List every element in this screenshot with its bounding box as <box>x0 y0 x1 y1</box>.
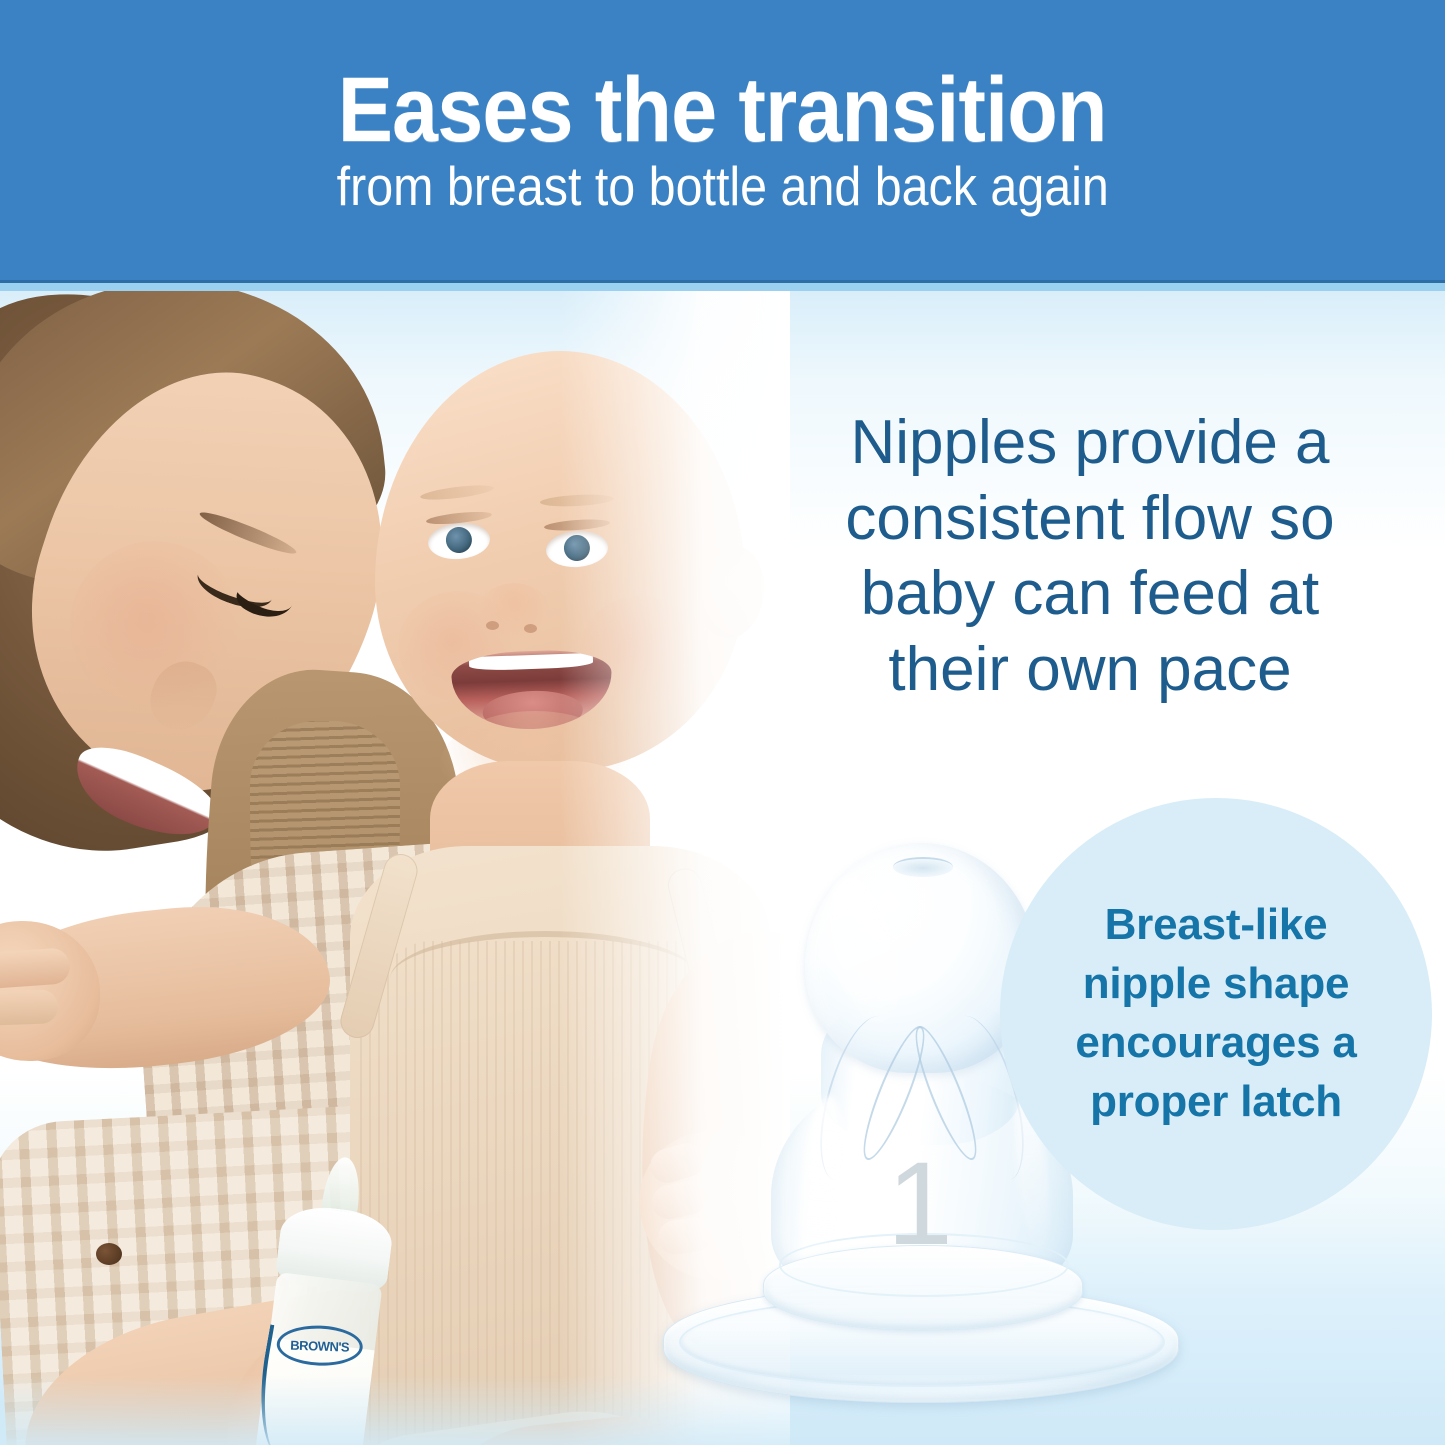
baby-nose <box>478 583 550 639</box>
page-subtitle: from breast to bottle and back again <box>336 158 1108 216</box>
page-title: Eases the transition <box>338 64 1107 156</box>
benefit-copy: Nipples provide a consistent flow so bab… <box>790 405 1390 708</box>
mother-finger <box>0 989 59 1027</box>
header-underline-divider <box>0 283 1445 291</box>
header-banner: Eases the transition from breast to bott… <box>0 0 1445 283</box>
benefit-copy-line-1: Nipples provide a <box>790 405 1390 481</box>
product-marketing-image: Eases the transition from breast to bott… <box>0 0 1445 1445</box>
feature-badge-circle: Breast-like nipple shape encourages a pr… <box>1000 798 1432 1230</box>
benefit-copy-line-2: consistent flow so <box>790 481 1390 557</box>
feature-badge-line-3: encourages a <box>1051 1014 1381 1073</box>
feature-badge-line-1: Breast-like <box>1051 896 1381 955</box>
nipple-feeding-hole <box>893 857 953 877</box>
feature-badge-text: Breast-like nipple shape encourages a pr… <box>1051 896 1381 1132</box>
mother-shirt-button <box>96 1243 122 1265</box>
benefit-copy-line-3: baby can feed at <box>790 556 1390 632</box>
feature-badge-line-2: nipple shape <box>1051 955 1381 1014</box>
feature-badge-line-4: proper latch <box>1051 1073 1381 1132</box>
baby-nostril-left <box>486 621 499 630</box>
baby-iris-left <box>445 526 473 554</box>
benefit-copy-line-4: their own pace <box>790 632 1390 708</box>
baby-nostril-right <box>524 624 537 633</box>
